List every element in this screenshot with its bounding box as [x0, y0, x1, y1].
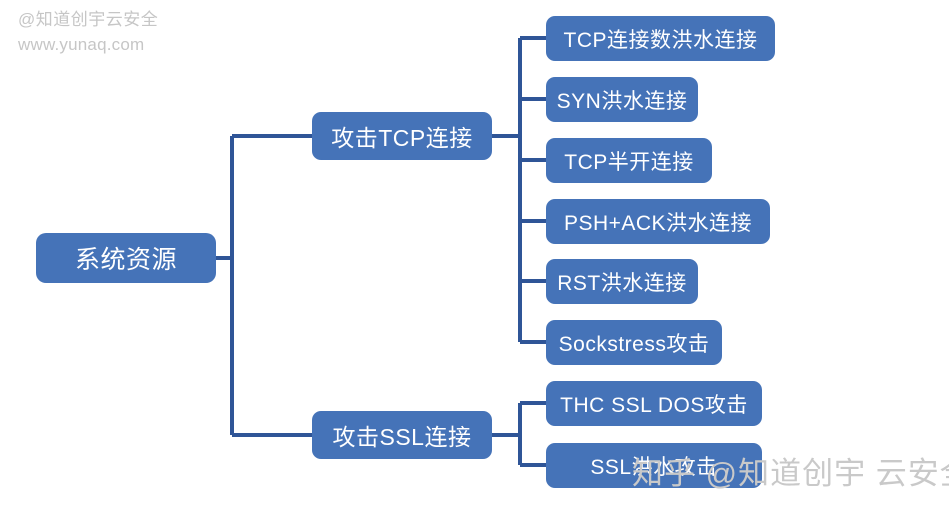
node-leaf-syn-flood[interactable]: SYN洪水连接 — [546, 77, 698, 122]
node-leaf-thc-ssl-dos[interactable]: THC SSL DOS攻击 — [546, 381, 762, 426]
node-root-label: 系统资源 — [75, 240, 177, 276]
node-leaf-ssl-flood[interactable]: SSL洪水攻击 — [546, 443, 762, 488]
node-leaf-syn-flood-label: SYN洪水连接 — [557, 85, 688, 115]
node-leaf-rst-flood-label: RST洪水连接 — [557, 267, 687, 297]
diagram-canvas: @知道创宇云安全 www.yunaq.com — [0, 0, 949, 505]
node-leaf-psh-ack-flood[interactable]: PSH+ACK洪水连接 — [546, 199, 770, 244]
node-leaf-rst-flood[interactable]: RST洪水连接 — [546, 259, 698, 304]
node-leaf-thc-ssl-dos-label: THC SSL DOS攻击 — [560, 389, 748, 419]
node-leaf-tcp-connection-flood-label: TCP连接数洪水连接 — [564, 24, 758, 54]
node-branch-attack-ssl-label: 攻击SSL连接 — [333, 418, 472, 452]
node-branch-attack-tcp[interactable]: 攻击TCP连接 — [312, 112, 492, 160]
node-leaf-psh-ack-flood-label: PSH+ACK洪水连接 — [564, 207, 752, 237]
node-leaf-ssl-flood-label: SSL洪水攻击 — [590, 451, 717, 481]
node-leaf-sockstress-label: Sockstress攻击 — [559, 328, 710, 358]
node-leaf-tcp-half-open[interactable]: TCP半开连接 — [546, 138, 712, 183]
node-leaf-sockstress[interactable]: Sockstress攻击 — [546, 320, 722, 365]
node-root[interactable]: 系统资源 — [36, 233, 216, 283]
node-leaf-tcp-half-open-label: TCP半开连接 — [564, 146, 694, 176]
node-branch-attack-ssl[interactable]: 攻击SSL连接 — [312, 411, 492, 459]
node-leaf-tcp-connection-flood[interactable]: TCP连接数洪水连接 — [546, 16, 775, 61]
node-branch-attack-tcp-label: 攻击TCP连接 — [331, 119, 473, 153]
